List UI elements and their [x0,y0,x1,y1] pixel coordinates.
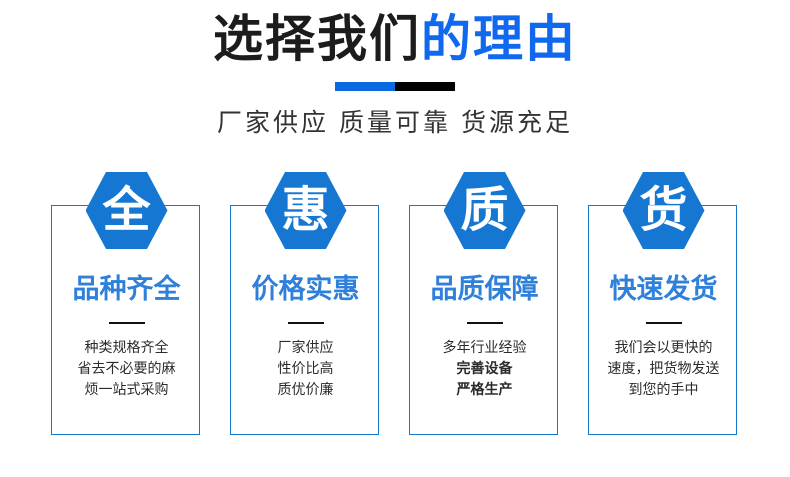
feature-card-body: 厂家供应 性价比高 质优价廉 [230,337,381,400]
feature-card-body-line: 完善设备 [409,358,560,379]
feature-card-body-line: 我们会以更快的 [588,337,739,358]
feature-card-body-line: 厂家供应 [230,337,381,358]
feature-card-heading: 品种齐全 [51,273,202,305]
feature-card: 质 品质保障 多年行业经验 完善设备 严格生产 [409,170,560,437]
feature-card-body-line: 省去不必要的麻 [51,358,202,379]
feature-card-heading: 价格实惠 [230,273,381,305]
feature-card-body-line: 质优价廉 [230,379,381,400]
feature-card-body-line: 严格生产 [409,379,560,400]
header-section: 选择我们的理由 厂家供应 质量可靠 货源充足 [0,0,790,139]
title-underline-blue-segment [335,82,395,91]
feature-card-body-line: 性价比高 [230,358,381,379]
feature-card-body-line: 速度，把货物发送 [588,358,739,379]
feature-card-body-line: 到您的手中 [588,379,739,400]
page-title: 选择我们的理由 [0,8,790,70]
hexagon-badge-label: 惠 [281,187,329,235]
hexagon-badge-label: 全 [102,187,150,235]
feature-card-body-line: 种类规格齐全 [51,337,202,358]
feature-card-heading: 快速发货 [588,273,739,305]
feature-card-list: 全 品种齐全 种类规格齐全 省去不必要的麻 烦一站式采购 惠 价格实惠 厂家供应… [0,170,790,450]
feature-card: 惠 价格实惠 厂家供应 性价比高 质优价廉 [230,170,381,437]
feature-card: 货 快速发货 我们会以更快的 速度，把货物发送 到您的手中 [588,170,739,437]
page-subtitle: 厂家供应 质量可靠 货源充足 [0,107,790,139]
feature-card-divider [646,322,682,324]
hexagon-badge-label: 货 [639,187,687,235]
page-title-blue-part: 的理由 [421,11,577,67]
feature-card-heading: 品质保障 [409,273,560,305]
feature-card-divider [467,322,503,324]
title-underline-black-segment [395,82,455,91]
feature-card-body: 种类规格齐全 省去不必要的麻 烦一站式采购 [51,337,202,400]
hexagon-badge-label: 质 [460,187,508,235]
feature-card-body: 多年行业经验 完善设备 严格生产 [409,337,560,400]
title-underline [335,82,455,91]
feature-card-body-line: 多年行业经验 [409,337,560,358]
page-title-dark-part: 选择我们 [213,11,421,67]
feature-card-body: 我们会以更快的 速度，把货物发送 到您的手中 [588,337,739,400]
feature-card: 全 品种齐全 种类规格齐全 省去不必要的麻 烦一站式采购 [51,170,202,437]
feature-card-body-line: 烦一站式采购 [51,379,202,400]
feature-card-divider [288,322,324,324]
feature-card-divider [109,322,145,324]
